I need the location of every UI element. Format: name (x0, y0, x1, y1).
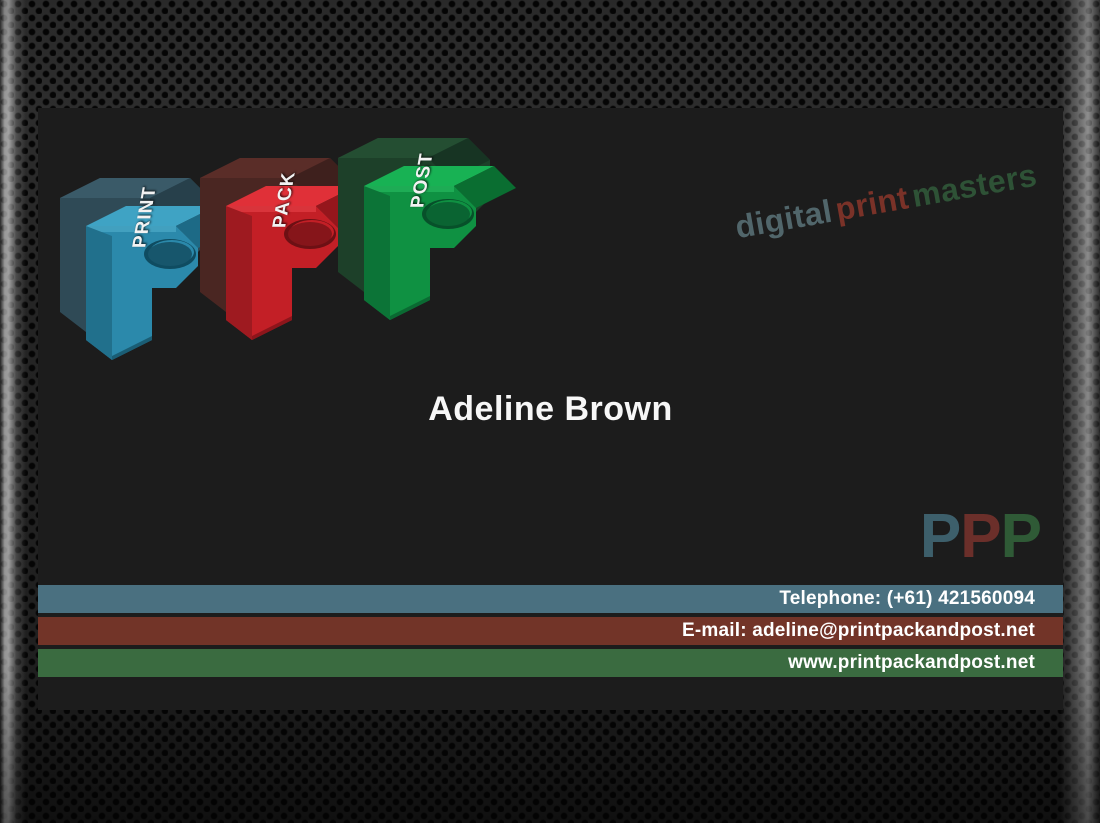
watermark-letter-3: P (1001, 502, 1041, 571)
logo-block-post-solid (344, 130, 544, 330)
contact-text-email: E-mail: adeline@printpackandpost.net (682, 620, 1035, 642)
tagline: digitalprintmasters (731, 156, 1042, 246)
tagline-word-digital: digital (731, 192, 837, 245)
contact-text-telephone: Telephone: (+61) 421560094 (779, 588, 1035, 610)
contact-bars: Telephone: (+61) 421560094 E-mail: adeli… (38, 585, 1063, 677)
contact-bar-website[interactable]: www.printpackandpost.net (38, 649, 1063, 677)
business-card: PRINT (38, 108, 1063, 710)
logo-block-post: POST (344, 130, 544, 330)
contact-text-website: www.printpackandpost.net (788, 652, 1035, 674)
watermark-letter-1: P (920, 502, 960, 571)
tagline-word-print: print (831, 179, 914, 228)
ppp-logo: PRINT (56, 128, 576, 378)
page-title: Adeline Brown (38, 390, 1063, 429)
ppp-watermark: PPP (920, 506, 1041, 568)
tagline-word-masters: masters (908, 156, 1043, 214)
contact-bar-telephone[interactable]: Telephone: (+61) 421560094 (38, 585, 1063, 613)
watermark-letter-2: P (960, 502, 1000, 571)
contact-bar-email[interactable]: E-mail: adeline@printpackandpost.net (38, 617, 1063, 645)
